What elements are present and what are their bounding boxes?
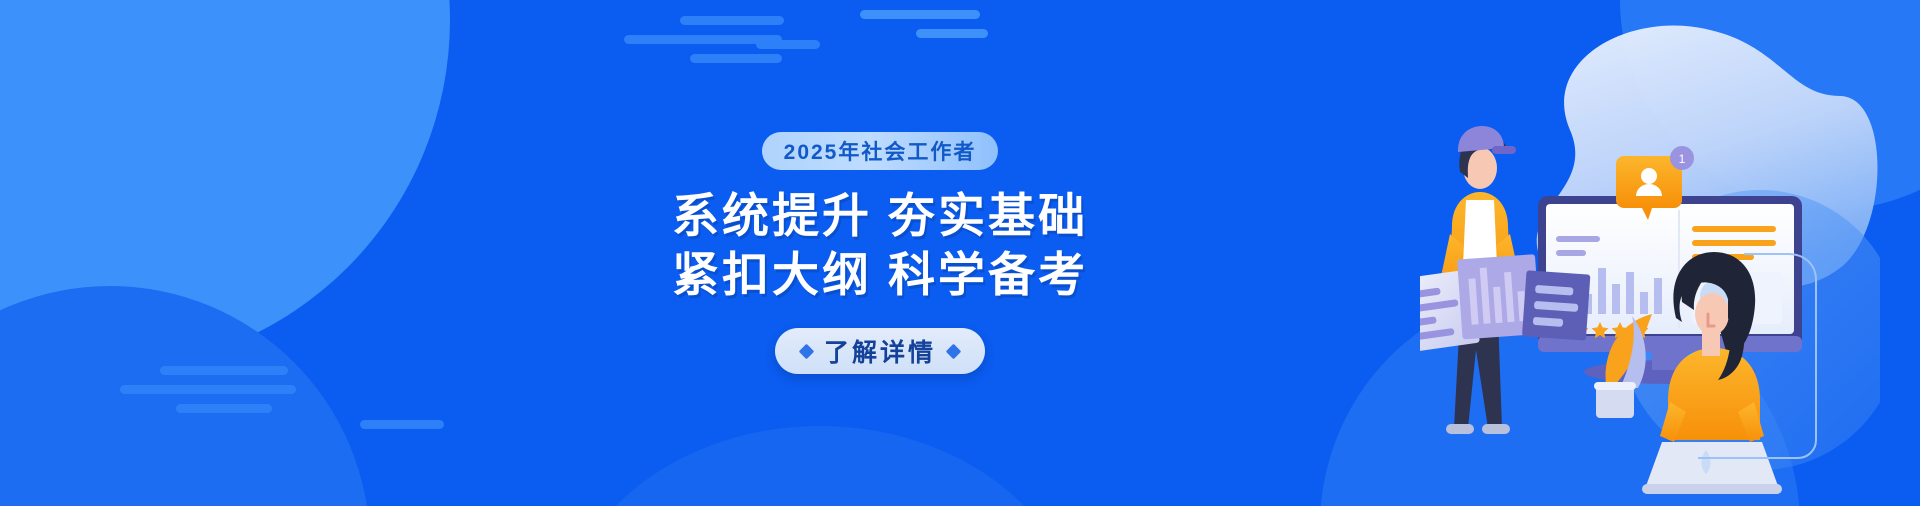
banner-title: 系统提升 夯实基础 紧扣大纲 科学备考 [672, 186, 1088, 304]
banner-title-line-2: 紧扣大纲 科学备考 [672, 245, 1088, 304]
banner-content: 2025年社会工作者 系统提升 夯实基础 紧扣大纲 科学备考 了解详情 [560, 0, 1200, 506]
promo-banner: 2025年社会工作者 系统提升 夯实基础 紧扣大纲 科学备考 了解详情 [0, 0, 1920, 506]
team-analytics-illustration: 1 [1420, 0, 1880, 506]
banner-title-line-1: 系统提升 夯实基础 [672, 186, 1088, 245]
decorative-stripes-bottom-left [120, 366, 296, 423]
learn-more-button-label: 了解详情 [824, 333, 936, 369]
notification-count: 1 [1679, 152, 1686, 166]
standing-person-with-charts [1420, 126, 1590, 434]
diamond-icon-left [799, 343, 815, 359]
diamond-icon-right [946, 343, 962, 359]
learn-more-button[interactable]: 了解详情 [775, 328, 985, 374]
banner-badge: 2025年社会工作者 [762, 132, 999, 170]
decorative-stripes-bottom-mid [360, 420, 444, 439]
